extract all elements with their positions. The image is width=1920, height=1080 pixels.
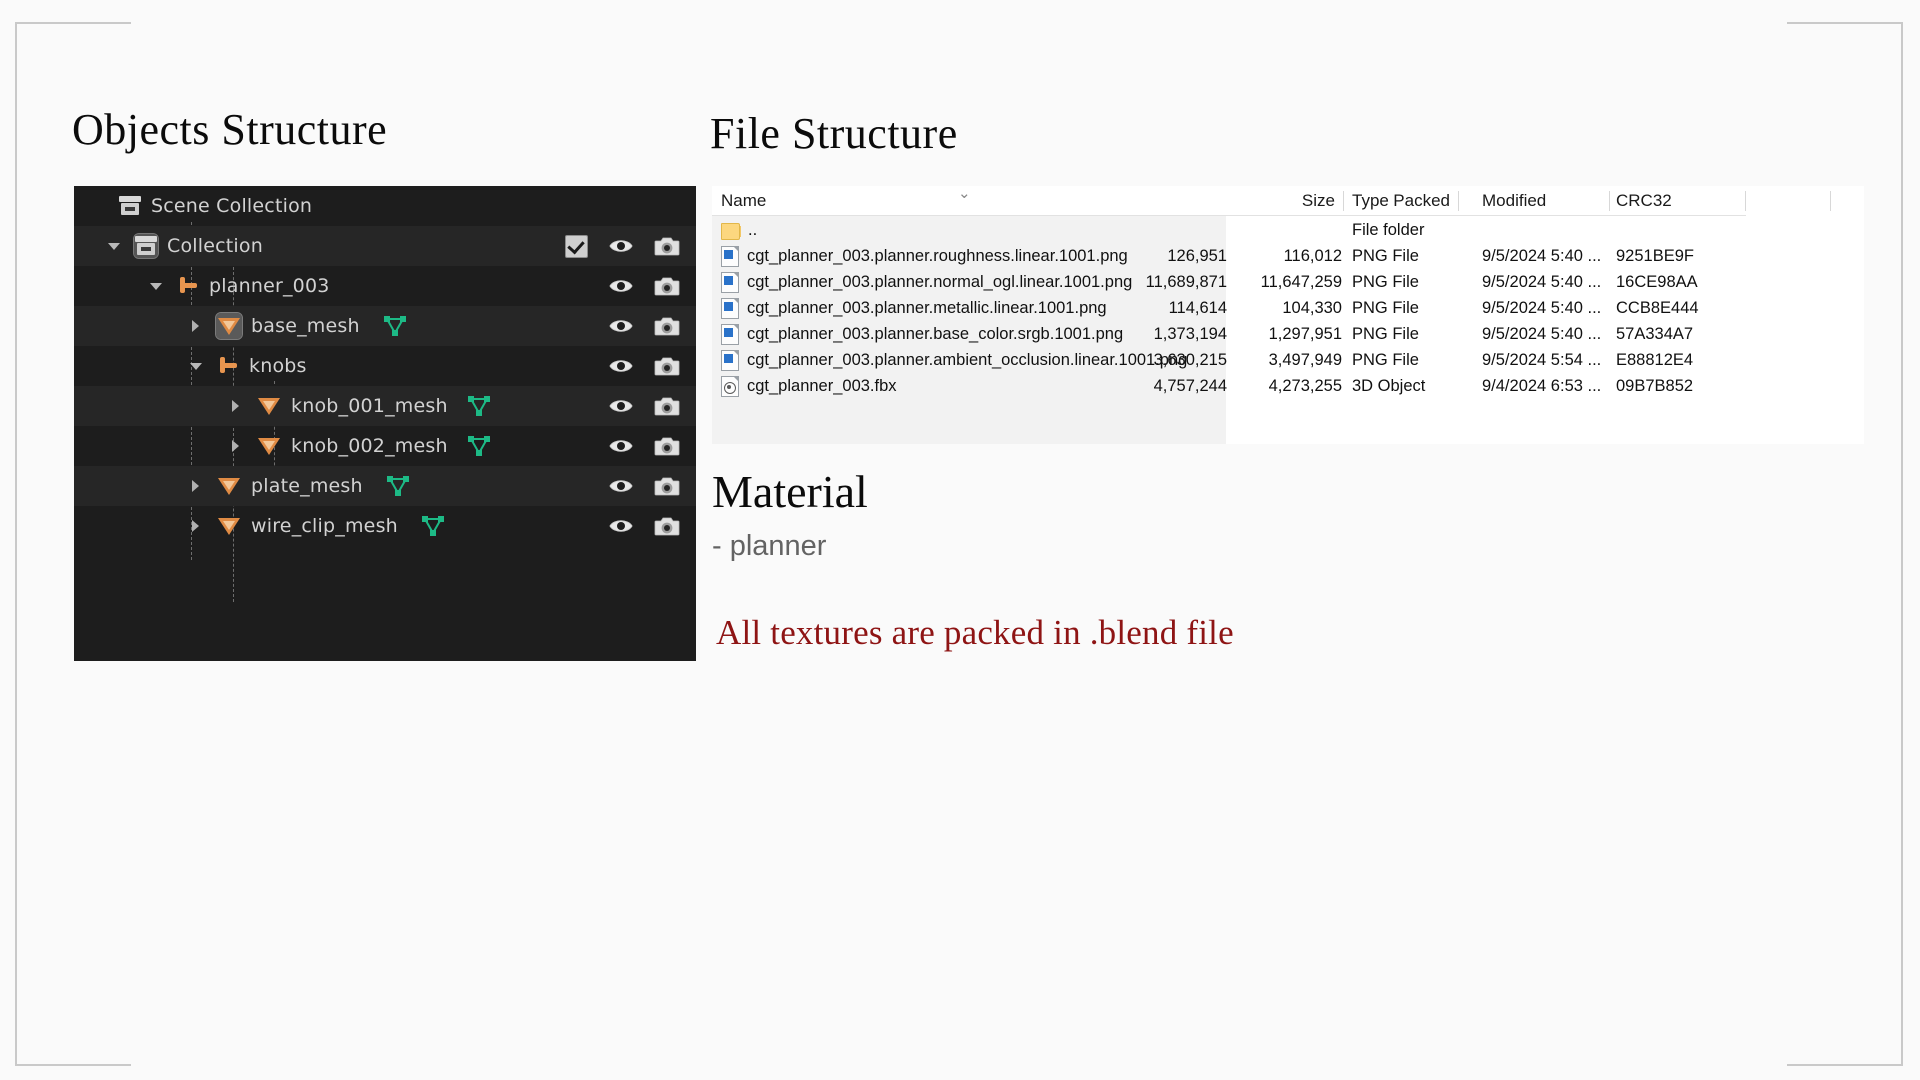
file-crc32-cell: 57A334A7	[1616, 321, 1693, 347]
file-row[interactable]: ..File folder	[712, 217, 1864, 243]
empty-axis-icon	[176, 274, 200, 298]
camera-icon[interactable]	[654, 396, 680, 417]
mesh-data-icon[interactable]	[466, 434, 492, 458]
outliner-row-label: plate_mesh	[251, 475, 363, 497]
file-name-cell[interactable]: cgt_planner_003.planner.metallic.linear.…	[721, 295, 1107, 321]
outliner-restriction-toggles	[567, 506, 680, 546]
material-heading: Material	[712, 465, 868, 518]
file-name-label: cgt_planner_003.planner.ambient_occlusio…	[747, 347, 1187, 373]
file-type-cell: PNG File	[1352, 321, 1419, 347]
chevron-right-icon[interactable]	[226, 396, 246, 416]
collection-icon	[134, 234, 158, 258]
frame-left-edge	[15, 22, 17, 1066]
empty-axis-icon	[216, 354, 240, 378]
file-type-cell: PNG File	[1352, 347, 1419, 373]
chevron-right-icon[interactable]	[226, 436, 246, 456]
file-size-cell: 4,757,244	[1154, 373, 1227, 399]
chevron-down-icon[interactable]	[104, 236, 124, 256]
mesh-data-icon[interactable]	[382, 314, 408, 338]
sort-chevron-down-icon: ⌄	[958, 188, 971, 200]
mesh-data-icon[interactable]	[420, 514, 446, 538]
camera-icon[interactable]	[654, 516, 680, 537]
file-name-cell[interactable]: cgt_planner_003.planner.normal_ogl.linea…	[721, 269, 1132, 295]
chevron-right-icon[interactable]	[186, 316, 206, 336]
column-header-modified-label: Modified	[1482, 191, 1546, 211]
file-size-cell: 11,689,871	[1146, 269, 1227, 295]
outliner-row-label: base_mesh	[251, 315, 360, 337]
column-header-type[interactable]: Type	[1352, 186, 1482, 216]
png-file-icon	[721, 272, 739, 293]
file-row[interactable]: cgt_planner_003.planner.metallic.linear.…	[712, 295, 1864, 321]
outliner-restriction-toggles	[567, 346, 680, 386]
outliner-row[interactable]: knobs	[74, 346, 696, 386]
file-row[interactable]: cgt_planner_003.planner.normal_ogl.linea…	[712, 269, 1864, 295]
file-size-cell: 114,614	[1169, 295, 1227, 321]
outliner-row[interactable]: knob_002_mesh	[74, 426, 696, 466]
file-name-label: cgt_planner_003.fbx	[747, 373, 897, 399]
file-name-cell[interactable]: cgt_planner_003.planner.roughness.linear…	[721, 243, 1128, 269]
file-packed-cell: 116,012	[1284, 243, 1342, 269]
frame-right-edge	[1901, 22, 1903, 1066]
frame-corner-top-right	[1787, 22, 1903, 24]
blender-outliner-panel[interactable]: Scene CollectionCollectionplanner_003bas…	[74, 186, 696, 661]
column-header-crc32[interactable]: CRC32	[1616, 186, 1746, 216]
file-crc32-cell: 9251BE9F	[1616, 243, 1694, 269]
camera-icon[interactable]	[654, 436, 680, 457]
outliner-row-label: knob_001_mesh	[291, 395, 448, 417]
png-file-icon	[721, 324, 739, 345]
outliner-restriction-toggles	[567, 466, 680, 506]
eye-icon[interactable]	[608, 236, 634, 256]
png-file-icon	[721, 246, 739, 267]
outliner-row[interactable]: Scene Collection	[74, 186, 696, 226]
chevron-right-icon[interactable]	[186, 516, 206, 536]
outliner-restriction-toggles	[567, 306, 680, 346]
file-modified-cell: 9/5/2024 5:40 ...	[1482, 295, 1601, 321]
disclosure-spacer	[88, 196, 108, 216]
folder-icon	[721, 222, 740, 238]
file-row[interactable]: cgt_planner_003.planner.ambient_occlusio…	[712, 347, 1864, 373]
column-separator-type[interactable]	[1609, 191, 1610, 211]
mesh-icon	[216, 513, 242, 539]
file-name-cell[interactable]: cgt_planner_003.planner.base_color.srgb.…	[721, 321, 1123, 347]
mesh-icon	[216, 473, 242, 499]
frame-corner-bottom-left	[15, 1064, 131, 1066]
file-type-cell: PNG File	[1352, 243, 1419, 269]
file-crc32-cell: 16CE98AA	[1616, 269, 1698, 295]
collection-icon	[118, 194, 142, 218]
eye-icon[interactable]	[608, 516, 634, 536]
outliner-restriction-toggles	[567, 266, 680, 306]
column-separator-modified[interactable]	[1745, 191, 1746, 211]
camera-icon[interactable]	[654, 316, 680, 337]
mesh-icon	[256, 433, 282, 459]
file-row[interactable]: cgt_planner_003.planner.base_color.srgb.…	[712, 321, 1864, 347]
outliner-row[interactable]: knob_001_mesh	[74, 386, 696, 426]
file-size-cell: 1,373,194	[1154, 321, 1227, 347]
outliner-row-label: Scene Collection	[151, 195, 312, 217]
outliner-restriction-toggles	[567, 386, 680, 426]
mesh-icon	[216, 313, 242, 339]
file-size-cell: 126,951	[1167, 243, 1227, 269]
file-packed-cell: 1,297,951	[1269, 321, 1342, 347]
file-size-cell: 3,630,215	[1154, 347, 1227, 373]
column-header-name-label: Name	[721, 191, 766, 211]
column-separator-crc32[interactable]	[1830, 191, 1831, 211]
column-header-size-label: Size	[1302, 191, 1335, 211]
column-separator-packed[interactable]	[1458, 191, 1459, 211]
outliner-restriction-toggles	[565, 226, 680, 266]
eye-icon[interactable]	[608, 316, 634, 336]
file-packed-cell: 104,330	[1282, 295, 1342, 321]
material-list-item: - planner	[712, 530, 826, 563]
checkbox-checked-icon[interactable]	[565, 235, 588, 258]
outliner-row-label: wire_clip_mesh	[251, 515, 398, 537]
camera-icon[interactable]	[654, 476, 680, 497]
file-crc32-cell: E88812E4	[1616, 347, 1693, 373]
file-row[interactable]: cgt_planner_003.planner.roughness.linear…	[712, 243, 1864, 269]
outliner-restriction-toggles	[567, 426, 680, 466]
eye-icon[interactable]	[608, 396, 634, 416]
camera-icon[interactable]	[654, 356, 680, 377]
column-header-modified[interactable]: Modified	[1482, 186, 1616, 216]
file-modified-cell: 9/5/2024 5:40 ...	[1482, 243, 1601, 269]
eye-icon[interactable]	[608, 436, 634, 456]
file-name-label: cgt_planner_003.planner.base_color.srgb.…	[747, 321, 1123, 347]
fbx-file-icon	[721, 376, 739, 397]
file-modified-cell: 9/5/2024 5:54 ...	[1482, 347, 1601, 373]
outliner-row[interactable]: base_mesh	[74, 306, 696, 346]
file-name-cell[interactable]: ..	[721, 217, 757, 243]
mesh-data-icon[interactable]	[466, 394, 492, 418]
file-packed-cell: 3,497,949	[1269, 347, 1342, 373]
eye-icon[interactable]	[608, 276, 634, 296]
file-crc32-cell: 09B7B852	[1616, 373, 1693, 399]
file-modified-cell: 9/5/2024 5:40 ...	[1482, 269, 1601, 295]
column-header-size[interactable]: Size	[1226, 186, 1343, 216]
file-type-cell: 3D Object	[1352, 373, 1425, 399]
file-packed-cell: 11,647,259	[1261, 269, 1342, 295]
chevron-down-icon[interactable]	[186, 356, 206, 376]
file-name-cell[interactable]: cgt_planner_003.planner.ambient_occlusio…	[721, 347, 1187, 373]
packed-textures-note: All textures are packed in .blend file	[716, 613, 1234, 653]
column-separator-size[interactable]	[1343, 191, 1344, 211]
column-header-crc32-label: CRC32	[1616, 191, 1672, 211]
file-type-cell: PNG File	[1352, 269, 1419, 295]
file-name-label: cgt_planner_003.planner.roughness.linear…	[747, 243, 1128, 269]
file-modified-cell: 9/5/2024 5:40 ...	[1482, 321, 1601, 347]
file-structure-heading: File Structure	[710, 108, 958, 159]
file-name-label: cgt_planner_003.planner.normal_ogl.linea…	[747, 269, 1132, 295]
file-packed-cell: 4,273,255	[1269, 373, 1342, 399]
mesh-icon	[256, 393, 282, 419]
outliner-row-label: planner_003	[209, 275, 330, 297]
file-crc32-cell: CCB8E444	[1616, 295, 1699, 321]
outliner-row-label: Collection	[167, 235, 263, 257]
chevron-down-icon[interactable]	[146, 276, 166, 296]
mesh-data-icon[interactable]	[385, 474, 411, 498]
eye-icon[interactable]	[608, 476, 634, 496]
eye-icon[interactable]	[608, 356, 634, 376]
file-name-label: ..	[748, 217, 757, 243]
outliner-row[interactable]: wire_clip_mesh	[74, 506, 696, 546]
chevron-right-icon[interactable]	[186, 476, 206, 496]
objects-structure-heading: Objects Structure	[72, 104, 387, 155]
file-name-cell[interactable]: cgt_planner_003.fbx	[721, 373, 897, 399]
outliner-row-label: knobs	[249, 355, 307, 377]
file-modified-cell: 9/4/2024 6:53 ...	[1482, 373, 1601, 399]
column-header-type-label: Type	[1352, 191, 1389, 211]
frame-corner-bottom-right	[1787, 1064, 1903, 1066]
frame-corner-top-left	[15, 22, 131, 24]
file-name-label: cgt_planner_003.planner.metallic.linear.…	[747, 295, 1107, 321]
png-file-icon	[721, 350, 739, 371]
file-type-cell: File folder	[1352, 217, 1424, 243]
file-explorer-panel[interactable]: Name ⌄ Size Packed Type Modified CRC32 .…	[712, 186, 1864, 444]
outliner-row[interactable]: Collection	[74, 226, 696, 266]
png-file-icon	[721, 298, 739, 319]
file-type-cell: PNG File	[1352, 295, 1419, 321]
camera-icon[interactable]	[654, 236, 680, 257]
camera-icon[interactable]	[654, 276, 680, 297]
outliner-row-label: knob_002_mesh	[291, 435, 448, 457]
outliner-row[interactable]: planner_003	[74, 266, 696, 306]
file-row[interactable]: cgt_planner_003.fbx4,757,2444,273,2553D …	[712, 373, 1864, 399]
outliner-row[interactable]: plate_mesh	[74, 466, 696, 506]
